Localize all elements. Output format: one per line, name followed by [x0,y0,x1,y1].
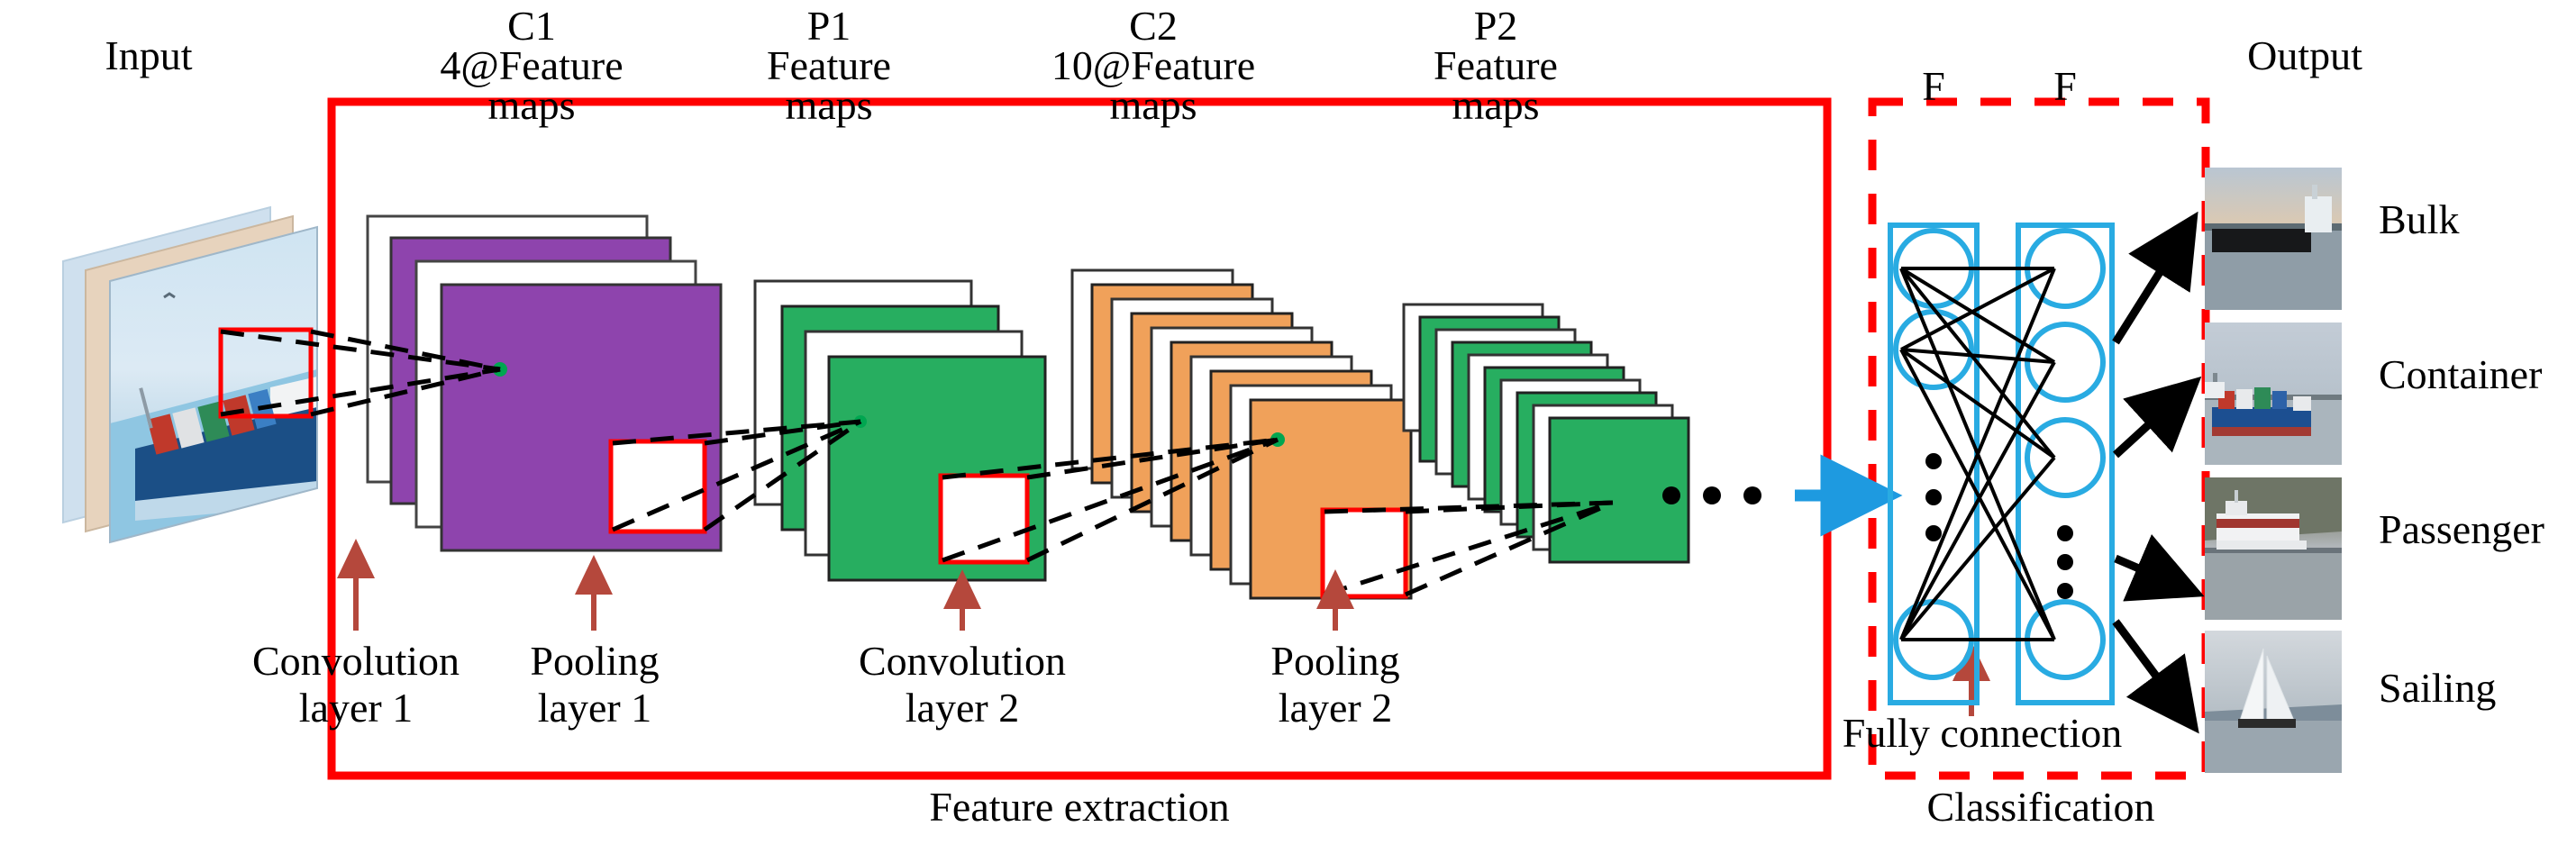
header-p1-line3: maps [712,84,946,127]
output-thumbnail-bulk [2205,168,2342,310]
header-p2-title: P2 [1379,5,1613,48]
output-thumbnail-passenger [2205,477,2342,620]
header-input: Input [36,34,261,77]
caption-pooling-layer-2-line2: layer 2 [1227,686,1443,730]
fc-layer-1-ellipsis [1925,453,1942,541]
c1-roi-box [611,441,705,531]
header-p2-line3: maps [1379,84,1613,127]
output-label-sailing: Sailing [2379,667,2576,710]
caption-convolution-layer-1-line2: layer 1 [212,686,500,730]
output-label-bulk: Bulk [2379,198,2576,241]
fc-layer-2-ellipsis [2057,525,2073,599]
header-c2-line2: 10@Feature [1007,44,1299,87]
header-f2: F [2029,65,2101,108]
caption-pooling-layer-1-line2: layer 1 [487,686,703,730]
section-label-feature-extraction: Feature extraction [881,786,1278,829]
output-label-container: Container [2379,353,2576,396]
output-arrows [2116,225,2189,721]
cnn-architecture-diagram: Input C1 4@Feature maps P1 Feature maps … [0,0,2576,854]
header-c2-title: C2 [1036,5,1270,48]
header-p2-line2: Feature [1379,44,1613,87]
header-output: Output [2188,34,2422,77]
header-p1-title: P1 [712,5,946,48]
caption-fully-connection: Fully connection [1793,712,2171,755]
caption-convolution-layer-2-line2: layer 2 [818,686,1106,730]
header-c1-title: C1 [414,5,649,48]
c2-feature-maps [1072,270,1411,598]
section-label-classification: Classification [1865,786,2216,829]
header-f1: F [1898,65,1970,108]
header-c1-line2: 4@Feature [396,44,667,87]
caption-convolution-layer-2-line1: Convolution [818,640,1106,683]
p2-continuation-dots [1662,486,1761,504]
output-thumbnail-sailing [2205,631,2342,773]
header-c1-line3: maps [414,84,649,127]
output-thumbnail-container [2205,323,2342,465]
output-label-passenger: Passenger [2379,508,2576,551]
fc-layer-2 [2018,225,2112,703]
header-p1-line2: Feature [712,44,946,87]
input-image-stack [63,207,317,542]
header-c2-line3: maps [1036,84,1270,127]
p1-roi-box [941,476,1027,562]
caption-convolution-layer-1-line1: Convolution [212,640,500,683]
caption-pooling-layer-2-line1: Pooling [1227,640,1443,683]
caption-pooling-layer-1-line1: Pooling [487,640,703,683]
